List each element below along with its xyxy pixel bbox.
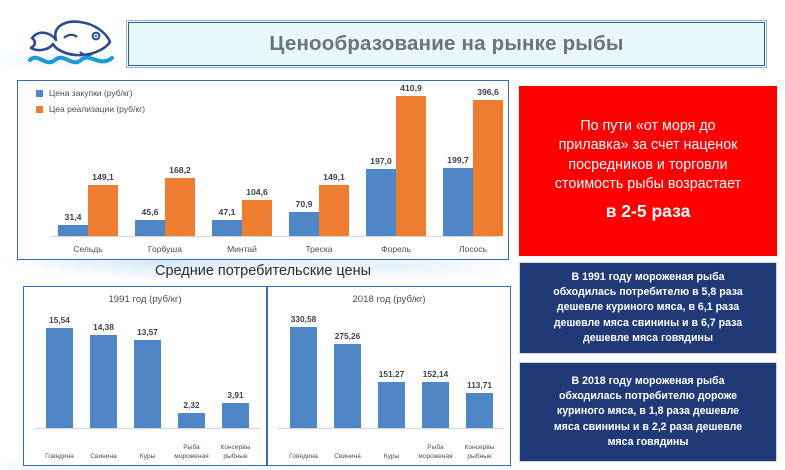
category-label: Минтай	[212, 244, 272, 254]
bar-purchase: 199,7	[443, 168, 473, 236]
category-label: Консервырыбные	[213, 443, 259, 461]
note-line: В 2018 году мороженая рыба	[554, 374, 742, 389]
chart-plot-area-1991: 15,54Говядина14,38Свинина13,57Куры2,32Ры…	[34, 315, 260, 429]
bar-value-label: 410,9	[400, 83, 422, 93]
fish-price-chart: Цена закупки (руб/кг) Цеа реализации (ру…	[17, 80, 509, 260]
bar: 2,32	[178, 413, 205, 428]
red-callout-line: посредников и торговли	[529, 156, 767, 176]
chart-title-2018: 2018 год (руб/кг)	[268, 294, 510, 305]
bar-value-label: 199,7	[447, 155, 469, 165]
category-label: Рыбамороженая	[169, 443, 215, 461]
bar-purchase: 47,1	[212, 220, 242, 236]
bar-value-label: 70,9	[296, 199, 313, 209]
bar-value-label: 113,71	[467, 380, 492, 390]
bar-value-label: 152,14	[423, 369, 448, 379]
bar-group: 70,9149,1Треска	[289, 89, 349, 237]
bar-retail: 410,9	[396, 96, 426, 236]
bar-value-label: 104,6	[246, 187, 268, 197]
bar-group: 197,0410,9Форель	[366, 89, 426, 237]
bar-value-label: 330,58	[291, 314, 316, 324]
note-line: дешевле куриного мяса, в 6,1 раза	[553, 300, 742, 315]
fish-logo	[22, 12, 120, 74]
bar: 151,27	[378, 382, 405, 428]
bar-value-label: 13,57	[137, 327, 158, 337]
bar-purchase: 197,0	[366, 169, 396, 236]
bar: 14,38	[90, 335, 117, 428]
bar-retail: 168,2	[165, 178, 195, 236]
bar-value-label: 149,1	[92, 172, 114, 182]
bar: 275,26	[334, 344, 361, 428]
bar-value-label: 197,0	[370, 156, 392, 166]
bar-group: 199,7396,6Лосось	[443, 89, 503, 237]
bar-value-label: 168,2	[169, 165, 191, 175]
bar: 330,58	[290, 327, 317, 428]
red-callout-line: стоимость рыбы возрастает	[529, 175, 767, 195]
category-label: Говядина	[37, 452, 83, 461]
red-callout-line: По пути «от моря до	[529, 117, 767, 137]
bar-group: 47,1104,6Минтай	[212, 89, 272, 237]
category-label: Свинина	[325, 452, 371, 461]
bar: 3,91	[222, 403, 249, 428]
note-line: дешевле мяса свинины и в 6,7 раза	[553, 316, 742, 331]
category-label: Куры	[369, 452, 415, 461]
page-title-text: Ценообразование на рынке рыбы	[269, 32, 623, 56]
consumer-2018-chart: 2018 год (руб/кг) 330,58Говядина275,26Св…	[267, 286, 511, 466]
category-label: Сельдь	[58, 244, 118, 254]
bar-retail: 149,1	[319, 185, 349, 236]
note-box-1991: В 1991 году мороженая рыбаобходилась пот…	[519, 262, 777, 354]
category-label: Куры	[125, 452, 171, 461]
bar-value-label: 31,4	[65, 212, 82, 222]
note-text-2018: В 2018 году мороженая рыбаобходилась пот…	[554, 374, 742, 450]
fish-logo-icon	[22, 12, 120, 74]
bar: 152,14	[422, 382, 449, 428]
page-title: Ценообразование на рынке рыбы	[128, 22, 765, 66]
bar-group: 45,6168,2Горбуша	[135, 89, 195, 237]
bar-value-label: 396,6	[477, 87, 499, 97]
bar-purchase: 45,6	[135, 220, 165, 236]
bar-value-label: 151,27	[379, 369, 404, 379]
bar-value-label: 15,54	[49, 315, 70, 325]
note-line: обходилась потребителю в 5,8 раза	[553, 285, 742, 300]
bar-value-label: 14,38	[93, 322, 114, 332]
red-callout-box: По пути «от моря до прилавка» за счет на…	[519, 86, 777, 256]
note-line: мяса говядины	[554, 435, 742, 450]
category-label: Консервырыбные	[457, 443, 503, 461]
bar-value-label: 47,1	[219, 207, 236, 217]
bar-value-label: 275,26	[335, 331, 360, 341]
chart-title-1991: 1991 год (руб/кг)	[24, 294, 266, 305]
bar-retail: 104,6	[242, 200, 272, 236]
note-box-2018: В 2018 году мороженая рыбаобходилась пот…	[519, 362, 777, 462]
bar: 113,71	[466, 393, 493, 428]
bar-value-label: 149,1	[323, 172, 345, 182]
category-label: Говядина	[281, 452, 327, 461]
bar-value-label: 2,32	[183, 400, 199, 410]
category-label: Лосось	[443, 244, 503, 254]
category-label: Треска	[289, 244, 349, 254]
consumer-1991-chart: 1991 год (руб/кг) 15,54Говядина14,38Свин…	[23, 286, 267, 466]
note-text-1991: В 1991 году мороженая рыбаобходилась пот…	[553, 270, 742, 346]
bar: 13,57	[134, 340, 161, 428]
category-label: Свинина	[81, 452, 127, 461]
category-label: Форель	[366, 244, 426, 254]
chart-plot-area-2018: 330,58Говядина275,26Свинина151,27Куры152…	[278, 315, 504, 429]
bar: 15,54	[46, 328, 73, 428]
category-label: Горбуша	[135, 244, 195, 254]
note-line: куриного мяса, в 1,8 раза дешевле	[554, 404, 742, 419]
bar-retail: 149,1	[88, 185, 118, 236]
bar-group: 31,4149,1Сельдь	[58, 89, 118, 237]
note-line: дешевле мяса говядины	[553, 331, 742, 346]
bar-value-label: 45,6	[142, 207, 159, 217]
chart-x-axis-2018	[278, 428, 504, 429]
red-callout-line: прилавка» за счет наценок	[529, 136, 767, 156]
chart-plot-area: 31,4149,1Сельдь45,6168,2Горбуша47,1104,6…	[36, 89, 500, 237]
red-callout-emphasis: в 2-5 раза	[606, 201, 691, 222]
chart-x-axis-1991	[34, 428, 260, 429]
note-line: обходилась потребителю дороже	[554, 389, 742, 404]
note-line: В 1991 году мороженая рыба	[553, 270, 742, 285]
bar-purchase: 31,4	[58, 225, 88, 236]
bar-retail: 396,6	[473, 100, 503, 236]
bar-purchase: 70,9	[289, 212, 319, 236]
consumer-prices-heading: Средние потребительские цены	[17, 263, 509, 279]
category-label: Рыбамороженая	[413, 443, 459, 461]
note-line: мяса свинины и в 2,2 раза дешевле	[554, 420, 742, 435]
bar-value-label: 3,91	[227, 390, 243, 400]
